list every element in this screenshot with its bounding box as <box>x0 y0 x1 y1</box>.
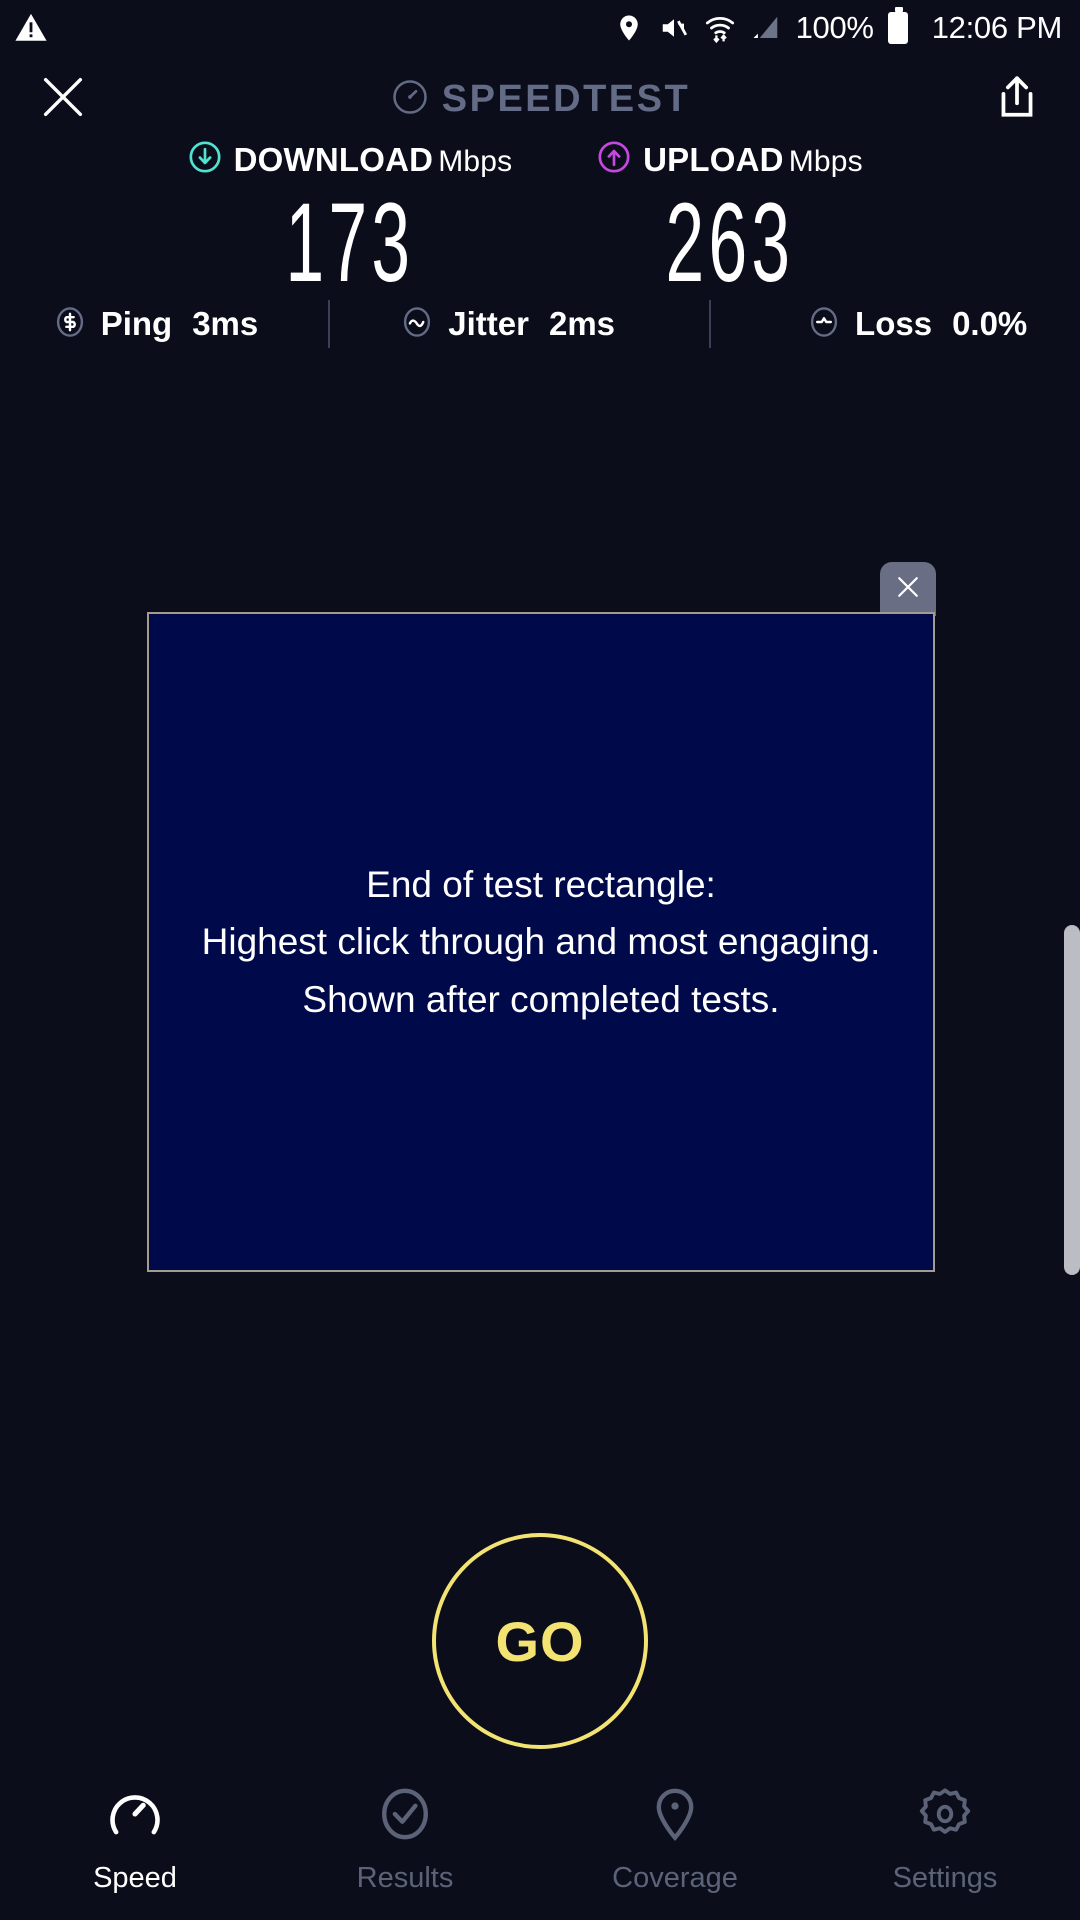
nav-item-settings[interactable]: Settings <box>810 1760 1080 1920</box>
ad-close-button[interactable] <box>880 562 936 616</box>
metric-ping-label: Ping <box>101 305 173 343</box>
nav-item-results[interactable]: Results <box>270 1760 540 1920</box>
gear-icon <box>916 1785 974 1848</box>
jitter-icon <box>400 305 434 344</box>
metric-loss-value: 0.0% <box>952 305 1027 343</box>
warning-triangle-icon <box>14 11 48 45</box>
wifi-transfer-icon <box>704 12 736 44</box>
upload-value: 263 <box>666 187 795 299</box>
speed-results: DOWNLOADMbps 173 UPLOADMbps 263 <box>0 140 1080 299</box>
nav-label-coverage: Coverage <box>612 1862 738 1895</box>
nav-item-coverage[interactable]: Coverage <box>540 1760 810 1920</box>
upload-block: UPLOADMbps 263 <box>540 140 920 299</box>
arrow-down-circle-icon <box>188 140 222 179</box>
metric-jitter-label: Jitter <box>448 305 529 343</box>
metric-ping-value: 3ms <box>192 305 258 343</box>
ping-icon <box>53 305 87 344</box>
bottom-navigation: Speed Results Coverage <box>0 1760 1080 1920</box>
volume-mute-icon <box>658 13 690 43</box>
location-pin-icon <box>614 13 644 43</box>
battery-full-icon <box>888 12 908 44</box>
download-label: DOWNLOADMbps <box>234 141 513 179</box>
upload-label-row: UPLOADMbps <box>597 140 863 179</box>
vertical-scrollbar[interactable] <box>1064 925 1080 1275</box>
status-bar-right: 100% 12:06 PM <box>614 10 1062 46</box>
share-button[interactable] <box>986 68 1048 130</box>
status-bar: 100% 12:06 PM <box>0 0 1080 56</box>
brand: SPEEDTEST <box>390 77 690 122</box>
nav-label-results: Results <box>357 1862 454 1895</box>
metric-divider <box>328 300 330 348</box>
speedometer-icon <box>390 77 430 122</box>
clock-label: 12:06 PM <box>932 10 1062 46</box>
battery-percent-label: 100% <box>796 10 874 46</box>
cell-signal-icon <box>750 13 782 43</box>
upload-label: UPLOADMbps <box>643 141 863 179</box>
metric-loss-label: Loss <box>855 305 932 343</box>
advertisement-banner[interactable]: End of test rectangle: Highest click thr… <box>147 612 935 1272</box>
arrow-up-circle-icon <box>597 140 631 179</box>
go-button[interactable]: GO <box>432 1533 648 1749</box>
metric-loss: Loss 0.0% <box>807 305 1027 344</box>
share-icon <box>992 72 1042 127</box>
metric-ping: Ping 3ms <box>53 305 259 344</box>
close-button[interactable] <box>32 68 94 130</box>
close-icon <box>893 572 923 607</box>
nav-item-speed[interactable]: Speed <box>0 1760 270 1920</box>
download-label-row: DOWNLOADMbps <box>188 140 513 179</box>
ad-text: End of test rectangle: Highest click thr… <box>202 856 881 1028</box>
download-value: 173 <box>286 187 415 299</box>
metrics-row: Ping 3ms Jitter 2ms <box>0 300 1080 348</box>
brand-title: SPEEDTEST <box>442 78 690 121</box>
location-pin-icon <box>646 1785 704 1848</box>
speed-label-row: DOWNLOADMbps 173 UPLOADMbps 263 <box>0 140 1080 299</box>
go-button-label: GO <box>495 1609 584 1674</box>
check-circle-icon <box>376 1785 434 1848</box>
speedtest-app-screen: 100% 12:06 PM SPEEDTEST <box>0 0 1080 1920</box>
speedometer-icon <box>106 1785 164 1848</box>
status-bar-left <box>14 11 48 45</box>
nav-label-speed: Speed <box>93 1862 177 1895</box>
nav-label-settings: Settings <box>893 1862 998 1895</box>
metric-divider <box>709 300 711 348</box>
close-icon <box>37 71 89 128</box>
loss-icon <box>807 305 841 344</box>
metric-jitter-value: 2ms <box>549 305 615 343</box>
metric-jitter: Jitter 2ms <box>400 305 615 344</box>
app-header: SPEEDTEST <box>0 56 1080 142</box>
download-block: DOWNLOADMbps 173 <box>160 140 540 299</box>
